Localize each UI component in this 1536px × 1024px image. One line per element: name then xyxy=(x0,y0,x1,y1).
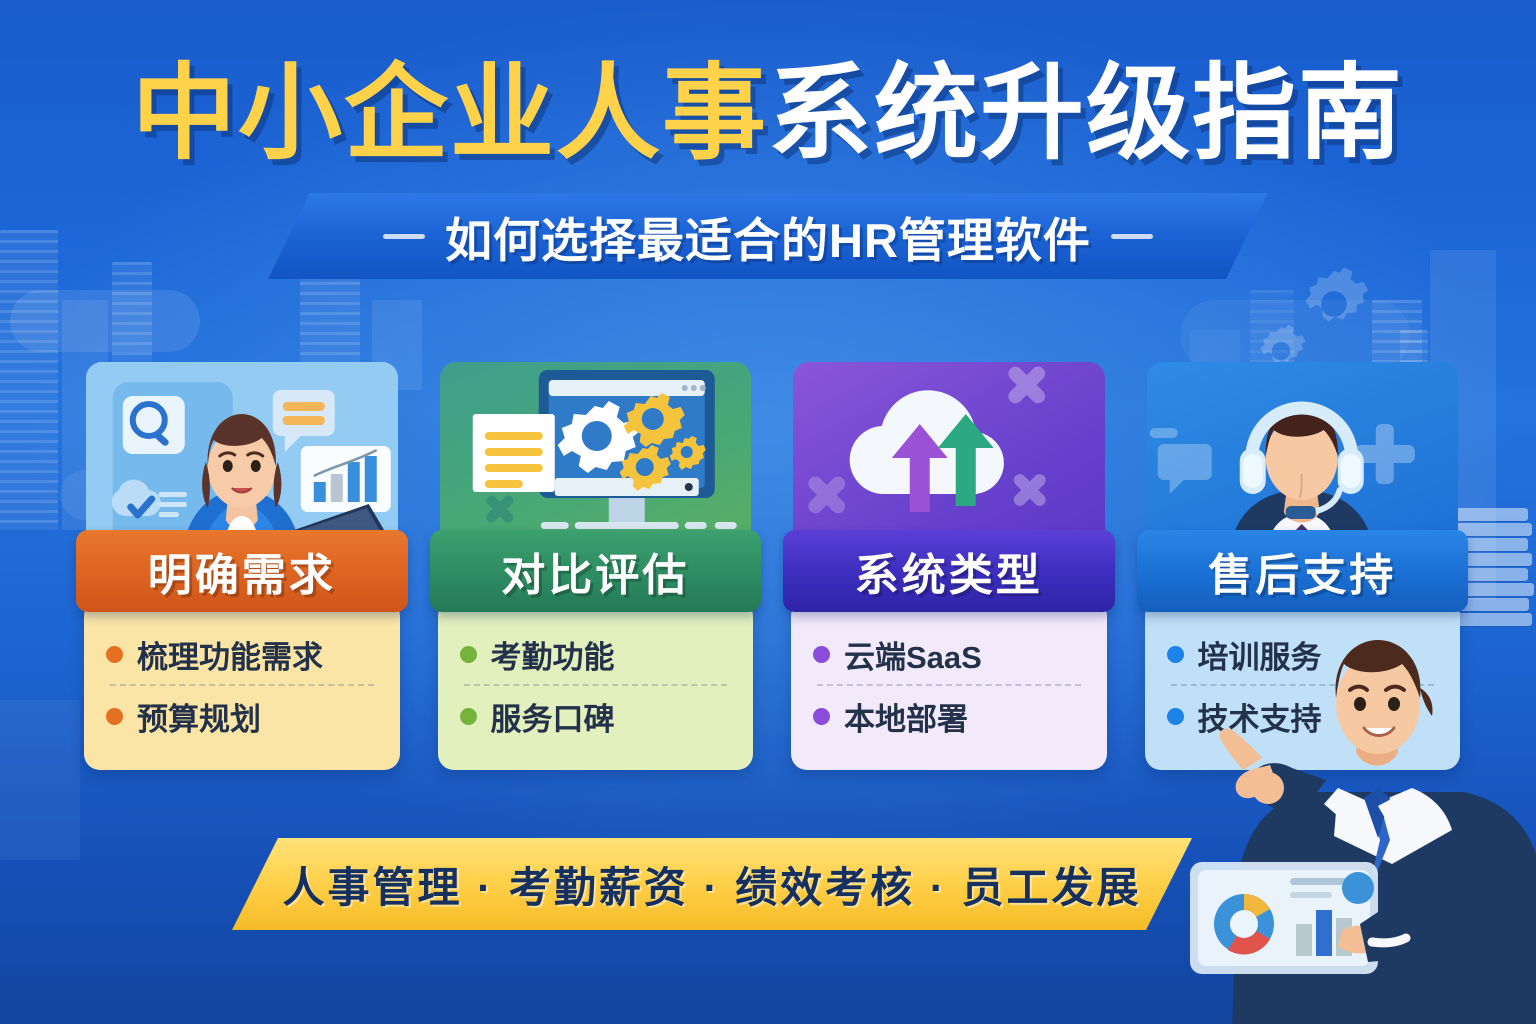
x-mark-icon xyxy=(1011,472,1048,509)
subtitle-banner: 如何选择最适合的HR管理软件 xyxy=(268,193,1268,279)
card-3-bullet-1: 云端SaaS xyxy=(844,632,982,677)
dash-right-icon xyxy=(1111,234,1153,239)
divider xyxy=(817,684,1081,686)
bullet-icon xyxy=(106,646,123,663)
title-white-part: 系统升级指南 xyxy=(768,56,1404,172)
card-4-header: 售后支持 xyxy=(1137,530,1469,612)
card-1-header: 明确需求 xyxy=(76,530,408,612)
card-1-bullet-1: 梳理功能需求 xyxy=(137,632,323,677)
card-3-bullet-2: 本地部署 xyxy=(844,694,968,739)
card-2-title: 对比评估 xyxy=(501,539,689,603)
chat-bubble-icon xyxy=(1149,428,1211,494)
city-skyline xyxy=(0,700,80,860)
card-4-title: 售后支持 xyxy=(1208,539,1396,603)
card-2-header: 对比评估 xyxy=(430,530,762,612)
page-subtitle: 如何选择最适合的HR管理软件 xyxy=(445,202,1091,271)
divider xyxy=(110,684,374,686)
donut-chart-icon xyxy=(1214,894,1274,954)
card-1-bullet-2: 预算规划 xyxy=(137,694,261,739)
bullet-icon xyxy=(460,708,477,725)
card-2-bullet-1: 考勤功能 xyxy=(491,632,615,677)
x-mark-icon xyxy=(484,493,515,524)
card-2[interactable]: 对比评估 考勤功能 服务口碑 xyxy=(430,362,762,782)
cloud-shape xyxy=(10,290,200,352)
bullet-icon xyxy=(813,708,830,725)
dash-left-icon xyxy=(383,234,425,239)
card-3[interactable]: 系统类型 云端SaaS 本地部署 xyxy=(783,362,1115,782)
list-item[interactable]: 考勤功能 xyxy=(460,626,732,682)
bullet-icon xyxy=(106,708,123,725)
x-mark-icon xyxy=(1006,364,1048,406)
list-item[interactable]: 预算规划 xyxy=(106,688,378,744)
bullet-icon xyxy=(460,646,477,663)
list-item[interactable]: 服务口碑 xyxy=(460,688,732,744)
divider xyxy=(464,684,728,686)
list-item[interactable]: 梳理功能需求 xyxy=(106,626,378,682)
footer-ribbon-text: 人事管理 · 考勤薪资 · 绩效考核 · 员工发展 xyxy=(283,854,1142,915)
businessman-pointing xyxy=(1142,612,1536,1024)
list-item[interactable]: 本地部署 xyxy=(813,688,1085,744)
page-title: 中小企业人事系统升级指南 xyxy=(0,58,1536,170)
cloud-shape xyxy=(1180,300,1410,370)
card-1-title: 明确需求 xyxy=(148,539,336,603)
chat-bubble-icon xyxy=(273,390,335,436)
footer-ribbon: 人事管理 · 考勤薪资 · 绩效考核 · 员工发展 xyxy=(232,838,1192,930)
card-3-title: 系统类型 xyxy=(855,539,1043,603)
card-3-body: 云端SaaS 本地部署 xyxy=(791,600,1107,770)
card-2-body: 考勤功能 服务口碑 xyxy=(438,600,754,770)
title-gold-part: 中小企业人事 xyxy=(132,56,768,172)
x-mark-icon xyxy=(806,474,848,516)
card-1-body: 梳理功能需求 预算规划 xyxy=(84,600,400,770)
infographic-poster: 中小企业人事系统升级指南 如何选择最适合的HR管理软件 xyxy=(0,0,1536,1024)
card-3-header: 系统类型 xyxy=(783,530,1115,612)
bar-chart-icon xyxy=(301,446,391,512)
list-item[interactable]: 云端SaaS xyxy=(813,626,1085,682)
card-1[interactable]: 明确需求 梳理功能需求 预算规划 xyxy=(76,362,408,782)
city-skyline xyxy=(0,230,58,530)
gear-icon xyxy=(1288,258,1380,350)
businessman-illustration xyxy=(1142,612,1536,1024)
bullet-icon xyxy=(813,646,830,663)
title-block: 中小企业人事系统升级指南 xyxy=(0,58,1536,170)
card-2-bullet-2: 服务口碑 xyxy=(491,694,615,739)
